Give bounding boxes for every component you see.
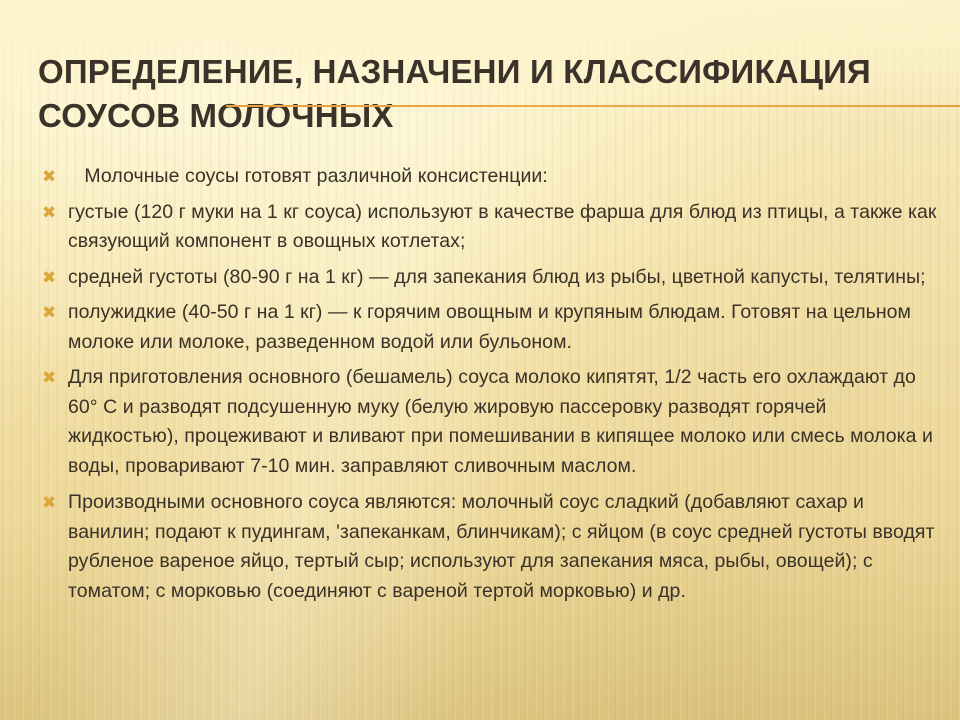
list-item-text: средней густоты (80-90 г на 1 кг) — для … bbox=[68, 263, 938, 293]
list-item-text: Производными основного соуса являются: м… bbox=[68, 488, 938, 606]
list-item-text: густые (120 г муки на 1 кг соуса) исполь… bbox=[68, 198, 938, 257]
list-item: ✖ Для приготовления основного (бешамель)… bbox=[38, 363, 938, 481]
presentation-slide: ОПРЕДЕЛЕНИЕ, НАЗНАЧЕНИ И КЛАССИФИКАЦИЯ С… bbox=[0, 0, 960, 720]
bullet-cross-icon: ✖ bbox=[38, 363, 68, 392]
slide-bullet-list: ✖ Молочные соусы готовят различной конси… bbox=[38, 162, 938, 613]
slide-title: ОПРЕДЕЛЕНИЕ, НАЗНАЧЕНИ И КЛАССИФИКАЦИЯ С… bbox=[38, 50, 908, 137]
bullet-cross-icon: ✖ bbox=[38, 263, 68, 292]
list-item-text: полужидкие (40-50 г на 1 кг) — к горячим… bbox=[68, 298, 938, 357]
list-item-text: Для приготовления основного (бешамель) с… bbox=[68, 363, 938, 481]
title-underline-rule bbox=[226, 105, 960, 107]
bullet-cross-icon: ✖ bbox=[38, 162, 68, 191]
list-item: ✖ средней густоты (80-90 г на 1 кг) — дл… bbox=[38, 263, 938, 293]
list-item: ✖ густые (120 г муки на 1 кг соуса) испо… bbox=[38, 198, 938, 257]
slide-title-block: ОПРЕДЕЛЕНИЕ, НАЗНАЧЕНИ И КЛАССИФИКАЦИЯ С… bbox=[38, 50, 938, 137]
bullet-cross-icon: ✖ bbox=[38, 198, 68, 227]
list-item-text: Молочные соусы готовят различной консист… bbox=[68, 162, 938, 192]
list-item: ✖ полужидкие (40-50 г на 1 кг) — к горяч… bbox=[38, 298, 938, 357]
list-item: ✖ Молочные соусы готовят различной конси… bbox=[38, 162, 938, 192]
bullet-cross-icon: ✖ bbox=[38, 488, 68, 517]
bullet-cross-icon: ✖ bbox=[38, 298, 68, 327]
slide-content: ОПРЕДЕЛЕНИЕ, НАЗНАЧЕНИ И КЛАССИФИКАЦИЯ С… bbox=[0, 0, 960, 720]
list-item: ✖ Производными основного соуса являются:… bbox=[38, 488, 938, 606]
